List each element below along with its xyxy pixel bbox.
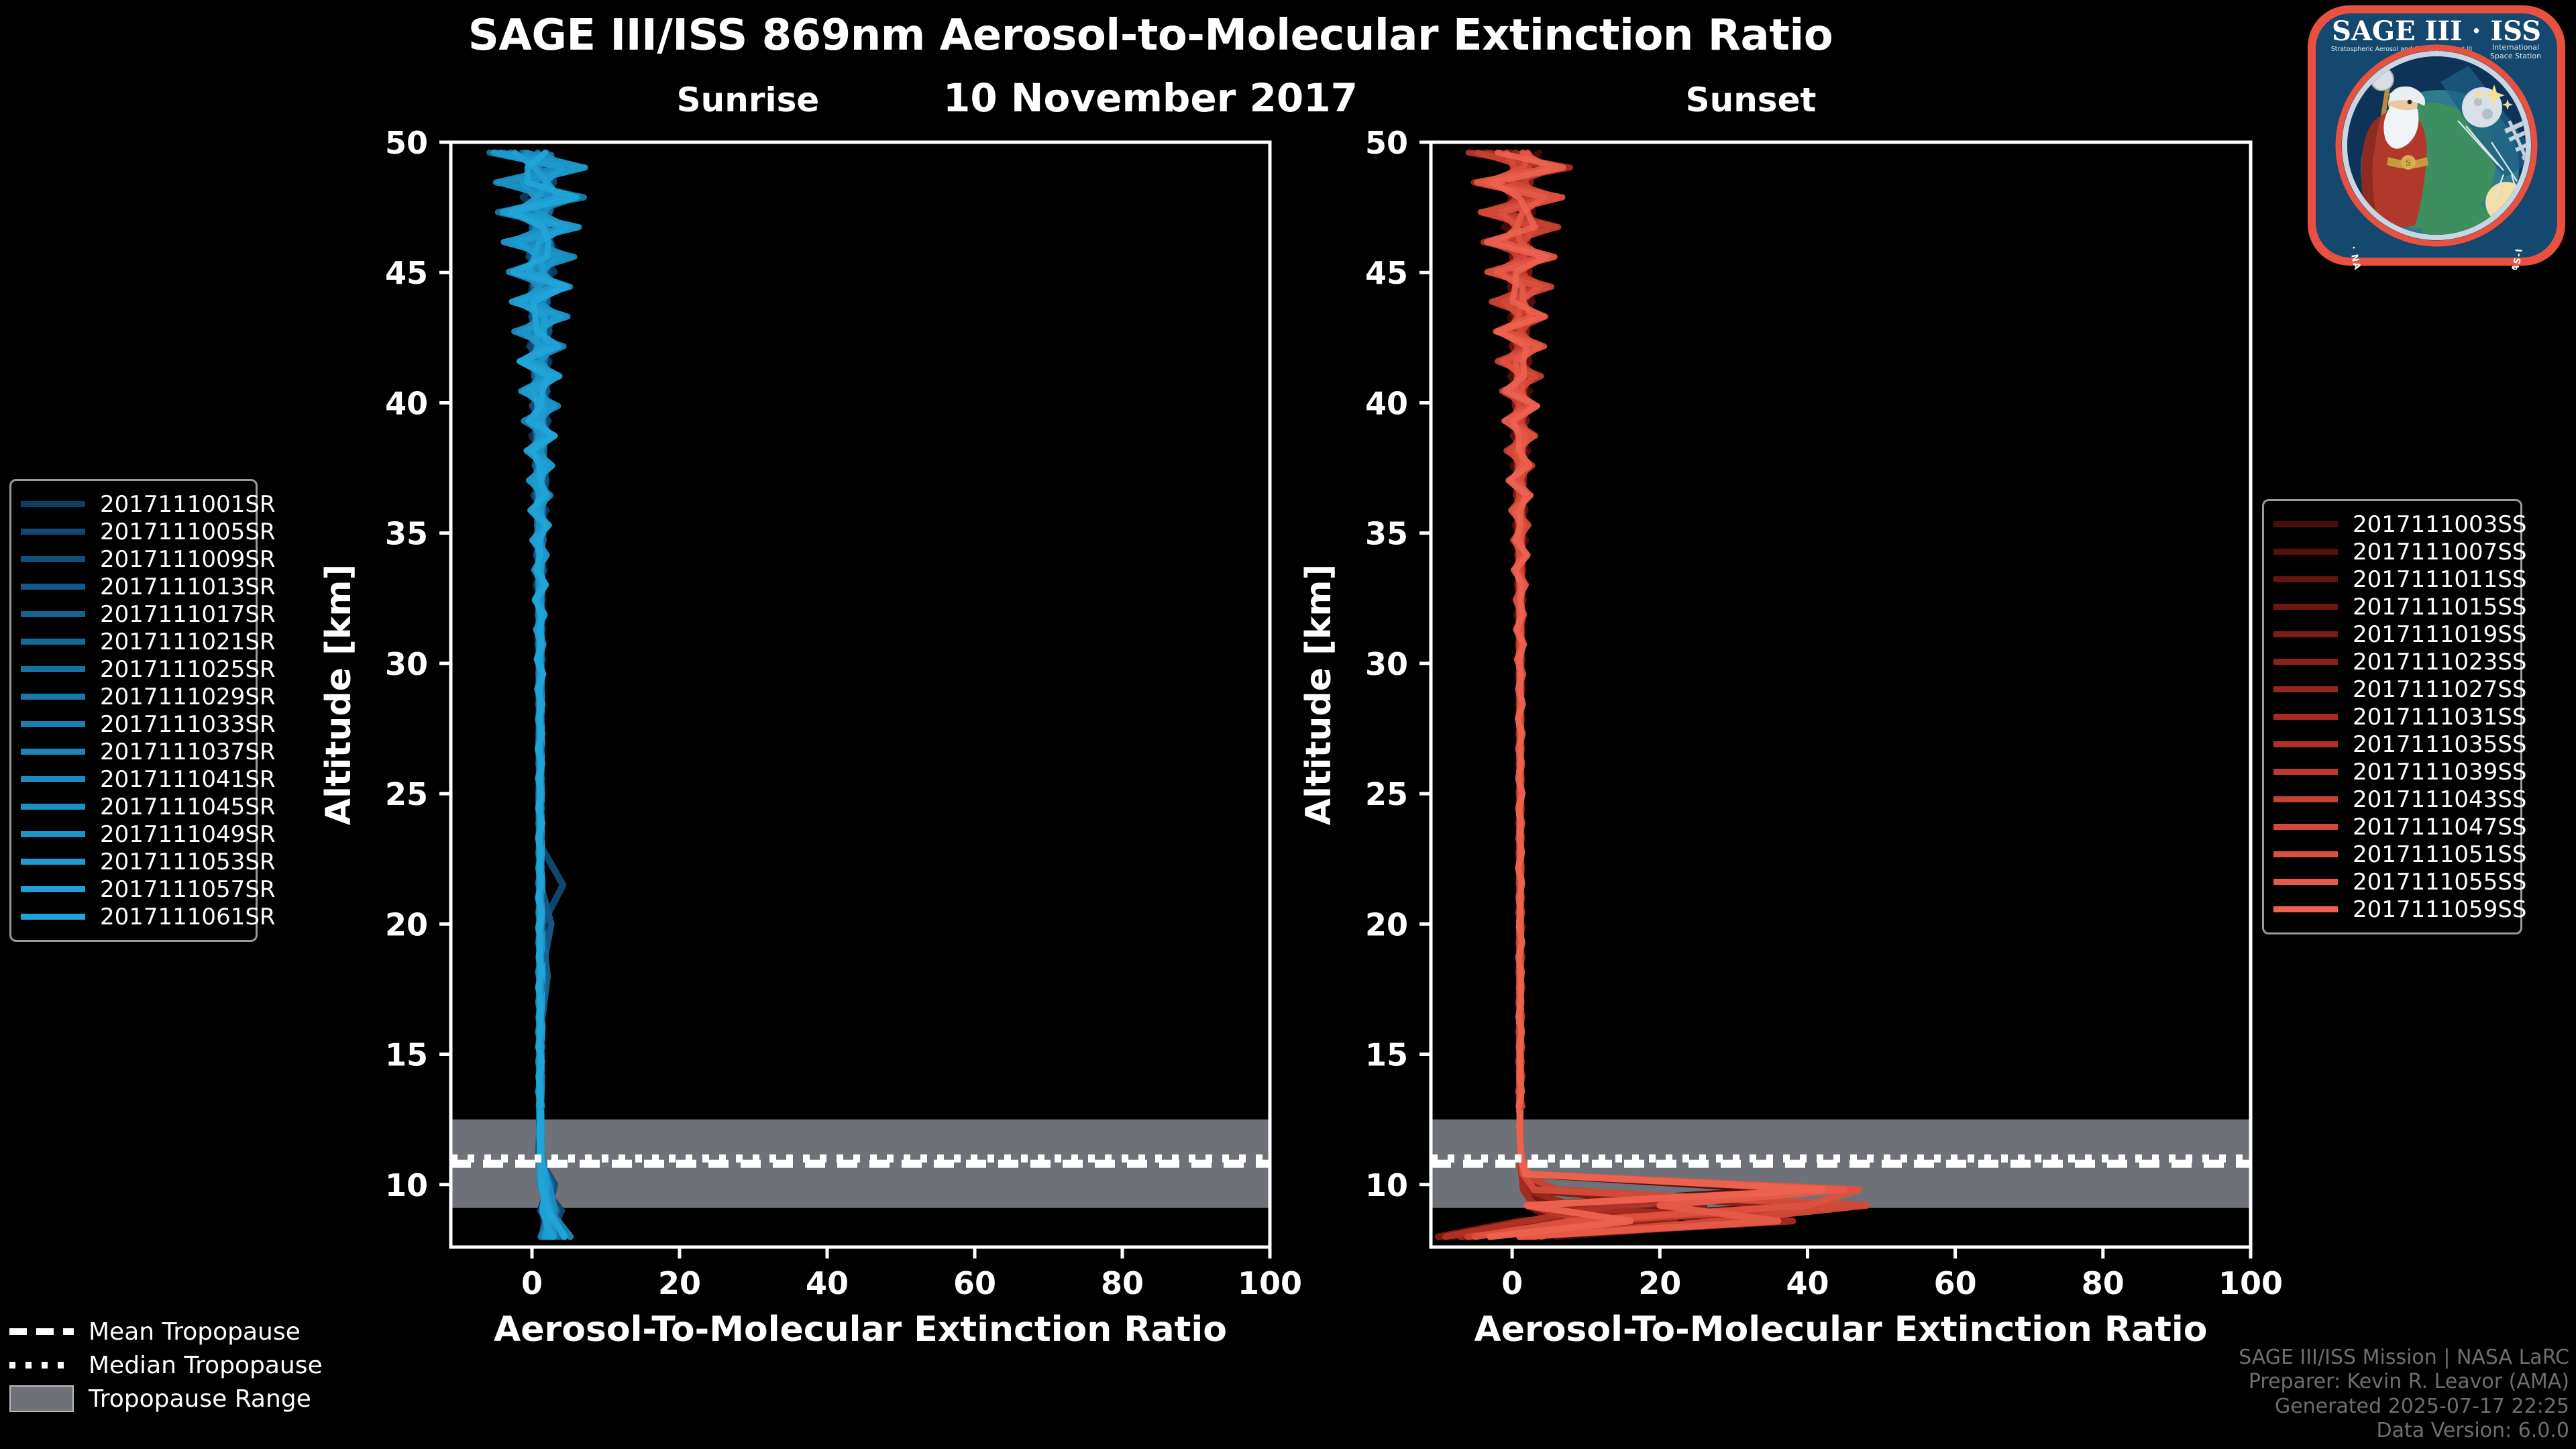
legend-item[interactable]: 2017111023SS	[2273, 648, 2508, 676]
x-tick-label: 80	[2082, 1265, 2125, 1301]
legend-item[interactable]: 2017111051SS	[2273, 841, 2508, 868]
x-tick-label: 0	[521, 1265, 543, 1301]
legend-color-swatch	[2273, 906, 2338, 912]
legend-item[interactable]: 2017111025SR	[21, 655, 244, 683]
legend-item-label: 2017111043SS	[2353, 786, 2526, 813]
x-tick-label: 100	[2218, 1265, 2283, 1301]
legend-item-label: Mean Tropopause	[89, 1318, 301, 1346]
legend-color-swatch	[21, 611, 85, 617]
legend-item[interactable]: 2017111035SS	[2273, 731, 2508, 758]
legend-item[interactable]: 2017111005SR	[21, 518, 244, 545]
legend-color-swatch	[2273, 631, 2338, 637]
legend-color-swatch	[21, 529, 85, 535]
legend-item[interactable]: 2017111053SR	[21, 848, 244, 875]
x-axis-label-sunrise: Aerosol-To-Molecular Extinction Ratio	[494, 1309, 1227, 1350]
legend-item-label: 2017111037SR	[100, 739, 276, 765]
legend-item[interactable]: 2017111057SR	[21, 875, 244, 903]
y-tick-label: 15	[1365, 1037, 1408, 1073]
series-line	[1442, 155, 1808, 1236]
legend-item: Tropopause Range	[9, 1382, 298, 1415]
legend-item-label: 2017111055SS	[2353, 869, 2526, 896]
plot-panel-sunset: 101520253035404550020406080100Aerosol-To…	[1299, 125, 2283, 1350]
dashed-line-icon	[9, 1328, 74, 1335]
series-line	[1519, 155, 1866, 1236]
legend-color-swatch	[21, 584, 85, 590]
legend-color-swatch	[21, 666, 85, 672]
range-patch-icon	[9, 1385, 74, 1412]
legend-item-label: 2017111047SS	[2353, 814, 2526, 841]
legend-color-swatch	[2273, 796, 2338, 802]
legend-sunrise[interactable]: 2017111001SR2017111005SR2017111009SR2017…	[9, 479, 258, 942]
legend-color-swatch	[2273, 879, 2338, 885]
legend-color-swatch	[21, 749, 85, 755]
legend-item-label: 2017111017SR	[100, 601, 276, 628]
y-tick-label: 50	[1365, 125, 1408, 161]
legend-item-label: 2017111023SS	[2353, 649, 2526, 676]
x-tick-label: 40	[1786, 1265, 1829, 1301]
y-tick-label: 40	[385, 385, 428, 421]
legend-item[interactable]: 2017111031SS	[2273, 703, 2508, 731]
legend-item-label: 2017111039SS	[2353, 759, 2526, 786]
x-axis-label-sunset: Aerosol-To-Molecular Extinction Ratio	[1474, 1309, 2208, 1350]
credits-line-version: Data Version: 6.0.0	[2239, 1419, 2569, 1444]
legend-item[interactable]: 2017111017SR	[21, 600, 244, 628]
series-line	[1519, 155, 1778, 1236]
legend-item[interactable]: 2017111033SR	[21, 710, 244, 738]
legend-item-label: 2017111019SS	[2353, 621, 2526, 648]
legend-item-label: 2017111007SS	[2353, 539, 2526, 566]
y-axis-label-sunset: Altitude [km]	[1299, 564, 1339, 826]
figure-canvas: SAGE III/ISS 869nm Aerosol-to-Molecular …	[0, 0, 2576, 1449]
legend-item-label: 2017111029SR	[100, 684, 276, 710]
legend-item[interactable]: 2017111009SR	[21, 545, 244, 573]
legend-item[interactable]: 2017111059SS	[2273, 896, 2508, 923]
y-tick-label: 15	[385, 1037, 428, 1073]
legend-sunset[interactable]: 2017111003SS2017111007SS2017111011SS2017…	[2262, 499, 2522, 934]
legend-color-swatch	[21, 556, 85, 562]
plot-frame-sunset	[1431, 142, 2251, 1247]
legend-color-swatch	[21, 721, 85, 727]
legend-color-swatch	[2273, 659, 2338, 665]
logo-title: SAGE III · ISS	[2332, 15, 2541, 47]
legend-color-swatch	[2273, 824, 2338, 830]
x-tick-label: 20	[658, 1265, 701, 1301]
x-tick-label: 60	[1934, 1265, 1977, 1301]
y-tick-label: 45	[385, 255, 428, 291]
legend-item-label: 2017111061SR	[100, 904, 276, 930]
legend-item[interactable]: 2017111001SR	[21, 490, 244, 518]
plot-frame-sunrise	[451, 142, 1270, 1247]
credits-line-generated: Generated 2025-07-17 22:25	[2239, 1395, 2569, 1419]
plot-panel-sunrise: 101520253035404550020406080100Aerosol-To…	[319, 125, 1302, 1350]
legend-color-swatch	[2273, 521, 2338, 527]
legend-item-label: 2017111009SR	[100, 546, 276, 573]
x-tick-label: 80	[1101, 1265, 1144, 1301]
series-line	[1519, 155, 1844, 1236]
legend-color-swatch	[21, 831, 85, 837]
legend-item: Mean Tropopause	[9, 1315, 298, 1348]
legend-item-label: Tropopause Range	[89, 1385, 311, 1413]
y-tick-label: 30	[1365, 646, 1408, 682]
series-line	[1446, 155, 1837, 1236]
y-tick-label: 20	[1365, 906, 1408, 943]
sage-iii-iss-logo-icon: SAGE III · ISS Stratospheric Aerosol and…	[2302, 1, 2571, 270]
legend-item[interactable]: 2017111011SS	[2273, 566, 2508, 593]
legend-color-swatch	[2273, 741, 2338, 747]
legend-item-label: 2017111021SR	[100, 629, 276, 655]
legend-item[interactable]: 2017111027SS	[2273, 676, 2508, 703]
legend-color-swatch	[21, 776, 85, 782]
legend-item-label: 2017111031SS	[2353, 704, 2526, 731]
legend-color-swatch	[21, 694, 85, 700]
series-line	[1519, 155, 1792, 1236]
legend-item-label: 2017111051SS	[2353, 841, 2526, 868]
legend-color-swatch	[21, 804, 85, 810]
legend-item-label: 2017111005SR	[100, 519, 276, 545]
legend-color-swatch	[2273, 714, 2338, 720]
x-tick-label: 100	[1238, 1265, 1302, 1301]
y-tick-label: 25	[1365, 776, 1408, 812]
legend-item[interactable]: 2017111055SS	[2273, 868, 2508, 896]
legend-item[interactable]: 2017111039SS	[2273, 758, 2508, 786]
legend-item-label: 2017111013SR	[100, 574, 276, 600]
legend-color-swatch	[21, 639, 85, 645]
legend-item[interactable]: 2017111047SS	[2273, 813, 2508, 841]
x-tick-label: 20	[1638, 1265, 1681, 1301]
legend-color-swatch	[21, 886, 85, 892]
dotted-line-icon	[9, 1362, 74, 1368]
legend-tropopause: Mean TropopauseMedian TropopauseTropopau…	[9, 1315, 298, 1415]
legend-color-swatch	[2273, 851, 2338, 857]
legend-item-label: 2017111033SR	[100, 711, 276, 738]
series-line	[1460, 155, 1674, 1236]
legend-color-swatch	[2273, 769, 2338, 775]
credits-line-mission: SAGE III/ISS Mission | NASA LaRC	[2239, 1346, 2569, 1371]
legend-item: Median Tropopause	[9, 1348, 298, 1382]
series-line	[1519, 155, 1733, 1236]
credits-line-preparer: Preparer: Kevin R. Leavor (AMA)	[2239, 1370, 2569, 1395]
legend-item-label: 2017111041SR	[100, 766, 276, 793]
svg-text:S: S	[2406, 158, 2411, 168]
y-tick-label: 40	[1365, 385, 1408, 421]
legend-item-label: 2017111027SS	[2353, 676, 2526, 703]
legend-color-swatch	[21, 914, 85, 920]
legend-item[interactable]: 2017111061SR	[21, 903, 244, 930]
y-tick-label: 25	[385, 776, 428, 812]
legend-item[interactable]: 2017111041SR	[21, 765, 244, 793]
legend-item[interactable]: 2017111043SS	[2273, 786, 2508, 813]
legend-item-label: 2017111045SR	[100, 794, 276, 820]
legend-color-swatch	[2273, 549, 2338, 555]
logo-subtitle-right-2: Space Station	[2490, 52, 2541, 60]
series-line	[1438, 155, 1704, 1236]
legend-item-label: 2017111025SR	[100, 656, 276, 683]
legend-color-swatch	[21, 859, 85, 865]
legend-item[interactable]: 2017111003SS	[2273, 511, 2508, 538]
x-tick-label: 0	[1501, 1265, 1523, 1301]
series-line	[1453, 155, 1792, 1236]
y-tick-label: 30	[385, 646, 428, 682]
y-tick-label: 35	[1365, 516, 1408, 552]
legend-item-label: 2017111001SR	[100, 491, 276, 518]
legend-item-label: 2017111059SS	[2353, 896, 2526, 923]
legend-color-swatch	[2273, 686, 2338, 692]
legend-item[interactable]: 2017111019SS	[2273, 621, 2508, 648]
legend-color-swatch	[2273, 576, 2338, 582]
legend-item-label: 2017111049SR	[100, 821, 276, 848]
legend-item-label: Median Tropopause	[89, 1352, 323, 1379]
legend-item-label: 2017111057SR	[100, 876, 276, 903]
legend-item[interactable]: 2017111015SS	[2273, 593, 2508, 621]
legend-item[interactable]: 2017111029SR	[21, 683, 244, 710]
y-tick-label: 45	[1365, 255, 1408, 291]
legend-item[interactable]: 2017111045SR	[21, 793, 244, 820]
y-axis-label-sunrise: Altitude [km]	[319, 564, 359, 826]
y-tick-label: 10	[385, 1167, 428, 1203]
legend-item[interactable]: 2017111007SS	[2273, 538, 2508, 566]
legend-item-label: 2017111011SS	[2353, 566, 2526, 593]
credits-block: SAGE III/ISS Mission | NASA LaRC Prepare…	[2239, 1346, 2569, 1444]
legend-color-swatch	[21, 501, 85, 507]
legend-item[interactable]: 2017111049SR	[21, 820, 244, 848]
series-line	[1517, 155, 1778, 1236]
logo-subtitle-right-1: International	[2492, 43, 2539, 52]
y-tick-label: 50	[385, 125, 428, 161]
y-tick-label: 35	[385, 516, 428, 552]
y-tick-label: 20	[385, 906, 428, 943]
x-tick-label: 40	[806, 1265, 849, 1301]
legend-item[interactable]: 2017111021SR	[21, 628, 244, 655]
x-tick-label: 60	[953, 1265, 996, 1301]
y-tick-label: 10	[1365, 1167, 1408, 1203]
legend-color-swatch	[2273, 604, 2338, 610]
series-line	[1519, 155, 1851, 1236]
plots-svg-layer: 101520253035404550020406080100Aerosol-To…	[0, 0, 2576, 1449]
legend-item-label: 2017111003SS	[2353, 511, 2526, 538]
legend-item-label: 2017111035SS	[2353, 731, 2526, 758]
legend-item-label: 2017111015SS	[2353, 594, 2526, 621]
legend-item-label: 2017111053SR	[100, 849, 276, 875]
legend-item[interactable]: 2017111013SR	[21, 573, 244, 600]
legend-item[interactable]: 2017111037SR	[21, 738, 244, 765]
